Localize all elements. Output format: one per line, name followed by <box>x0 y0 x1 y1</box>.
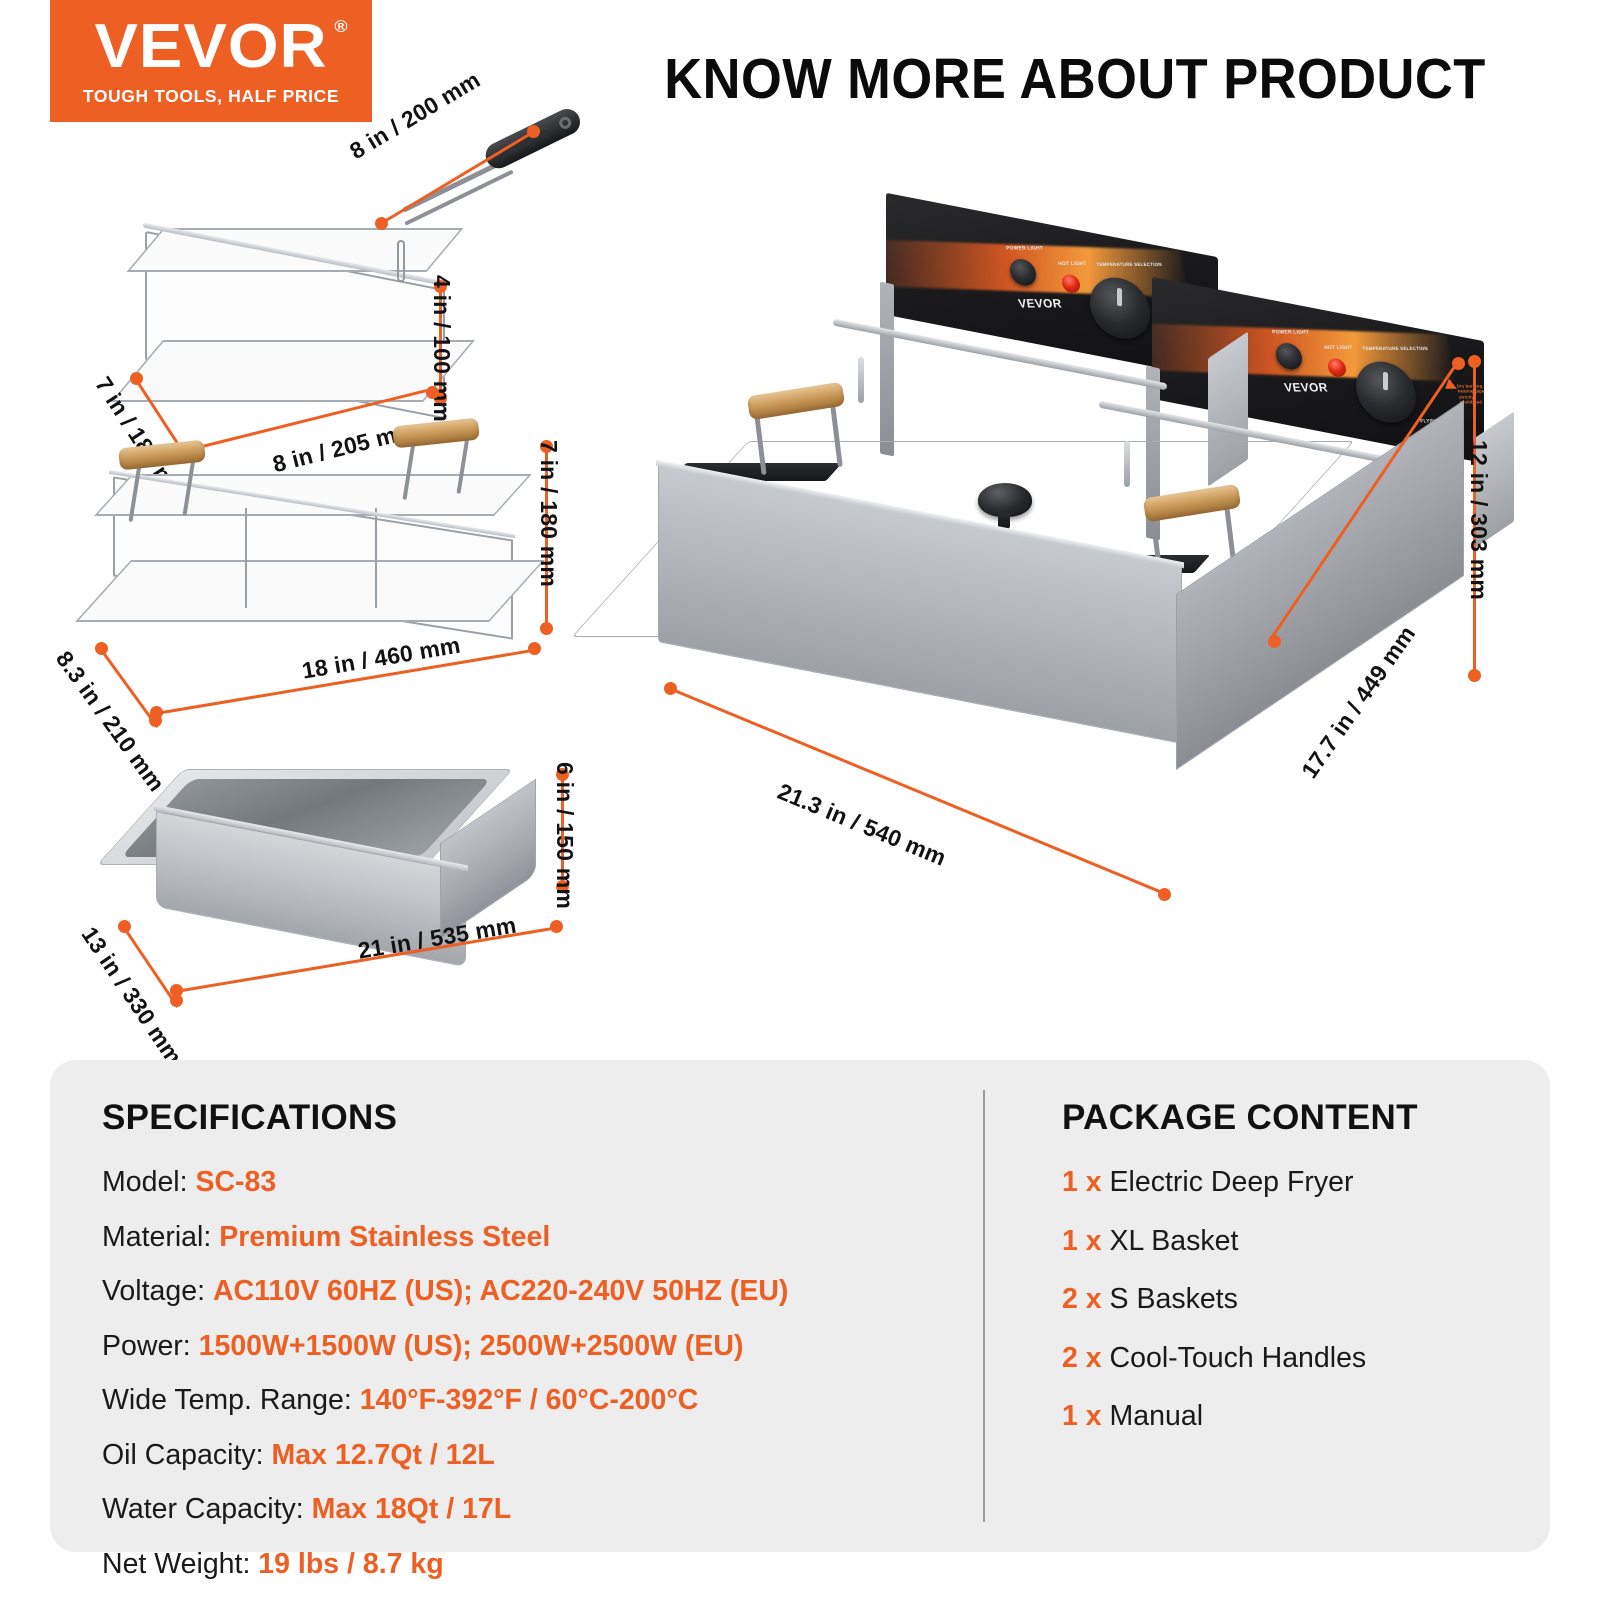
dim-endpoint-dot <box>118 920 131 933</box>
spec-label: Net Weight: <box>102 1548 250 1580</box>
spec-row: Wide Temp. Range: 140°F-392°F / 60°C-200… <box>102 1386 962 1415</box>
guard-rail-post-b <box>1124 441 1130 487</box>
vevor-logo: VEVOR ® TOUGH TOOLS, HALF PRICE <box>50 0 372 122</box>
dim-endpoint-dot <box>95 642 108 655</box>
package-qty: 1 x <box>1062 1166 1102 1198</box>
xl-basket-divider <box>245 508 247 608</box>
spec-label: Model: <box>102 1166 188 1198</box>
dim-endpoint-dot <box>375 217 388 230</box>
package-row: 1 x Manual <box>1062 1402 1532 1431</box>
dim-endpoint-dot <box>528 642 541 655</box>
brand-wordmark: VEVOR ® <box>94 16 327 78</box>
package-item: Electric Deep Fryer <box>1110 1166 1354 1198</box>
lid-center-knob[interactable] <box>978 483 1032 517</box>
registered-trademark-icon: ® <box>334 18 348 35</box>
package-row: 1 x Electric Deep Fryer <box>1062 1168 1532 1197</box>
xl-basket-bottom-face <box>75 560 545 622</box>
power-light-label-right: POWER LIGHT <box>1272 330 1310 336</box>
spec-value: 19 lbs / 8.7 kg <box>258 1548 443 1580</box>
spec-label: Wide Temp. Range: <box>102 1384 352 1416</box>
package-row: 2 x Cool-Touch Handles <box>1062 1344 1532 1373</box>
dim-endpoint-dot <box>1268 635 1281 648</box>
temperature-selection-label-left: TEMPERATURE SELECTION <box>1096 262 1162 267</box>
package-item: S Baskets <box>1110 1283 1238 1315</box>
spec-value: Premium Stainless Steel <box>219 1221 550 1253</box>
spec-row: Net Weight: 19 lbs / 8.7 kg <box>102 1550 962 1579</box>
brand-tagline: TOUGH TOOLS, HALF PRICE <box>83 86 339 107</box>
package-item: Cool-Touch Handles <box>1110 1342 1367 1374</box>
dial-pointer-icon <box>1117 288 1122 307</box>
package-item: Manual <box>1110 1400 1203 1432</box>
grip-hang-hole-icon <box>557 115 573 131</box>
xl-basket-illustration <box>95 430 565 670</box>
package-content-section: PACKAGE CONTENT 1 x Electric Deep Fryer … <box>1062 1098 1532 1431</box>
panel-brand-left: VEVOR <box>1017 297 1063 311</box>
backsplash-left <box>880 282 894 457</box>
spec-value: Max 18Qt / 17L <box>312 1493 512 1525</box>
spec-row: Voltage: AC110V 60HZ (US); AC220-240V 50… <box>102 1277 962 1306</box>
package-qty: 2 x <box>1062 1342 1102 1374</box>
power-light-label-left: POWER LIGHT <box>1006 246 1044 252</box>
dim-label-small-basket-height: 4 in / 100 mm <box>428 275 455 422</box>
dim-endpoint-dot <box>1468 669 1481 682</box>
dim-small-basket-handle <box>375 128 555 238</box>
spec-value: AC110V 60HZ (US); AC220-240V 50HZ (EU) <box>213 1275 788 1307</box>
temperature-selection-label-right: TEMPERATURE SELECTION <box>1362 346 1428 351</box>
dim-endpoint-dot <box>150 706 163 719</box>
spec-label: Oil Capacity: <box>102 1439 264 1471</box>
package-row: 1 x XL Basket <box>1062 1227 1532 1256</box>
dim-line <box>1268 364 1457 643</box>
package-item: XL Basket <box>1110 1225 1239 1257</box>
dim-endpoint-dot <box>130 372 143 385</box>
spec-row: Water Capacity: Max 18Qt / 17L <box>102 1495 962 1524</box>
package-qty: 1 x <box>1062 1400 1102 1432</box>
package-qty: 2 x <box>1062 1283 1102 1315</box>
dim-endpoint-dot <box>664 682 677 695</box>
spec-row: Material: Premium Stainless Steel <box>102 1223 962 1252</box>
brand-name: VEVOR <box>94 12 327 81</box>
specifications-title: SPECIFICATIONS <box>102 1098 962 1138</box>
specifications-section: SPECIFICATIONS Model: SC-83 Material: Pr… <box>102 1098 962 1578</box>
dim-endpoint-dot <box>1452 357 1465 370</box>
spec-value: 140°F-392°F / 60°C-200°C <box>360 1384 699 1416</box>
dim-label-tank-height: 6 in / 150 mm <box>551 762 578 909</box>
package-qty: 1 x <box>1062 1225 1102 1257</box>
basket-hook-icon <box>397 240 405 282</box>
package-row: 2 x S Baskets <box>1062 1285 1532 1314</box>
spec-label: Voltage: <box>102 1275 205 1307</box>
xl-basket-divider <box>375 508 377 608</box>
spec-row: Model: SC-83 <box>102 1168 962 1197</box>
spec-value: SC-83 <box>195 1166 276 1198</box>
dim-line <box>380 132 532 225</box>
page-title: KNOW MORE ABOUT PRODUCT <box>647 46 1503 112</box>
dim-endpoint-dot <box>527 125 540 138</box>
spec-row: Oil Capacity: Max 12.7Qt / 12L <box>102 1441 962 1470</box>
spec-row: Power: 1500W+1500W (US); 2500W+2500W (EU… <box>102 1332 962 1361</box>
info-panel: SPECIFICATIONS Model: SC-83 Material: Pr… <box>50 1060 1550 1552</box>
hot-light-label-right: HOT LIGHT <box>1324 345 1353 351</box>
dim-endpoint-dot <box>540 622 553 635</box>
spec-label: Material: <box>102 1221 211 1253</box>
dim-label-xl-basket-height: 7 in / 180 mm <box>535 440 562 587</box>
dim-endpoint-dot <box>426 386 439 399</box>
package-content-title: PACKAGE CONTENT <box>1062 1098 1532 1138</box>
spec-value: Max 12.7Qt / 12L <box>271 1439 494 1471</box>
guard-rail-post-a <box>858 357 864 403</box>
dim-endpoint-dot <box>550 920 563 933</box>
spec-label: Power: <box>102 1330 191 1362</box>
dim-fryer-depth <box>1170 355 1460 895</box>
hot-light-label-left: HOT LIGHT <box>1058 261 1087 267</box>
dim-label-fryer-height: 12 in / 303 mm <box>1465 440 1492 600</box>
dim-endpoint-dot <box>1468 355 1481 368</box>
spec-value: 1500W+1500W (US); 2500W+2500W (EU) <box>199 1330 744 1362</box>
dim-endpoint-dot <box>170 984 183 997</box>
section-divider <box>983 1090 985 1522</box>
infographic-page: VEVOR ® TOUGH TOOLS, HALF PRICE KNOW MOR… <box>0 0 1600 1600</box>
spec-label: Water Capacity: <box>102 1493 304 1525</box>
